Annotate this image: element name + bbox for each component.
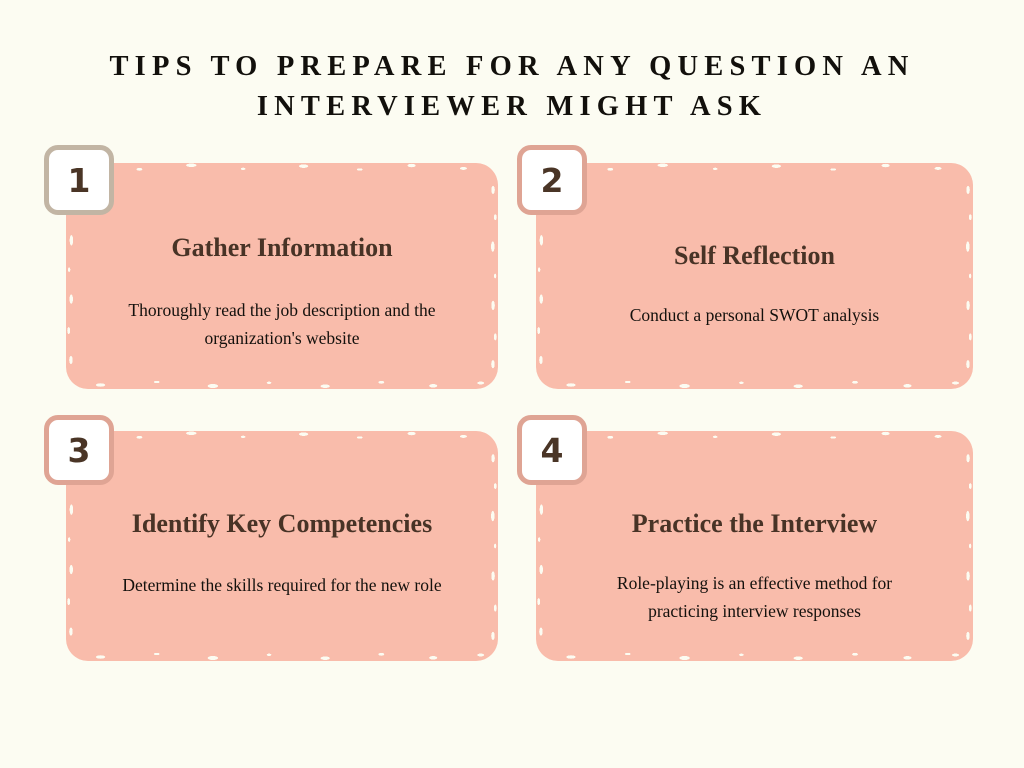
- card-content-4: Practice the Interview Role-playing is a…: [536, 509, 973, 625]
- card-content-3: Identify Key Competencies Determine the …: [66, 509, 498, 599]
- step-number-4: 4: [541, 434, 564, 467]
- step-number-1: 1: [68, 164, 91, 197]
- tip-card-1: Gather Information Thoroughly read the j…: [66, 163, 498, 389]
- tip-card-3: Identify Key Competencies Determine the …: [66, 431, 498, 661]
- infographic-poster: Tips to Prepare for Any Question An Inte…: [0, 0, 1024, 768]
- step-number-2: 2: [541, 164, 564, 197]
- card-content-1: Gather Information Thoroughly read the j…: [66, 233, 498, 352]
- card-description-3: Determine the skills required for the ne…: [66, 571, 498, 599]
- tip-card-2: Self Reflection Conduct a personal SWOT …: [536, 163, 973, 389]
- page-title: Tips to Prepare for Any Question An Inte…: [62, 47, 962, 127]
- card-description-4: Role-playing is an effective method for …: [536, 569, 973, 625]
- card-heading-1: Gather Information: [66, 233, 498, 263]
- card-heading-2: Self Reflection: [536, 241, 973, 271]
- card-description-1: Thoroughly read the job description and …: [66, 296, 498, 352]
- step-number-3: 3: [68, 434, 91, 467]
- step-badge-4: 4: [517, 415, 587, 485]
- card-description-2: Conduct a personal SWOT analysis: [536, 301, 973, 329]
- tip-card-4: Practice the Interview Role-playing is a…: [536, 431, 973, 661]
- step-badge-2: 2: [517, 145, 587, 215]
- card-heading-3: Identify Key Competencies: [66, 509, 498, 539]
- step-badge-1: 1: [44, 145, 114, 215]
- step-badge-3: 3: [44, 415, 114, 485]
- card-heading-4: Practice the Interview: [536, 509, 973, 539]
- card-content-2: Self Reflection Conduct a personal SWOT …: [536, 241, 973, 329]
